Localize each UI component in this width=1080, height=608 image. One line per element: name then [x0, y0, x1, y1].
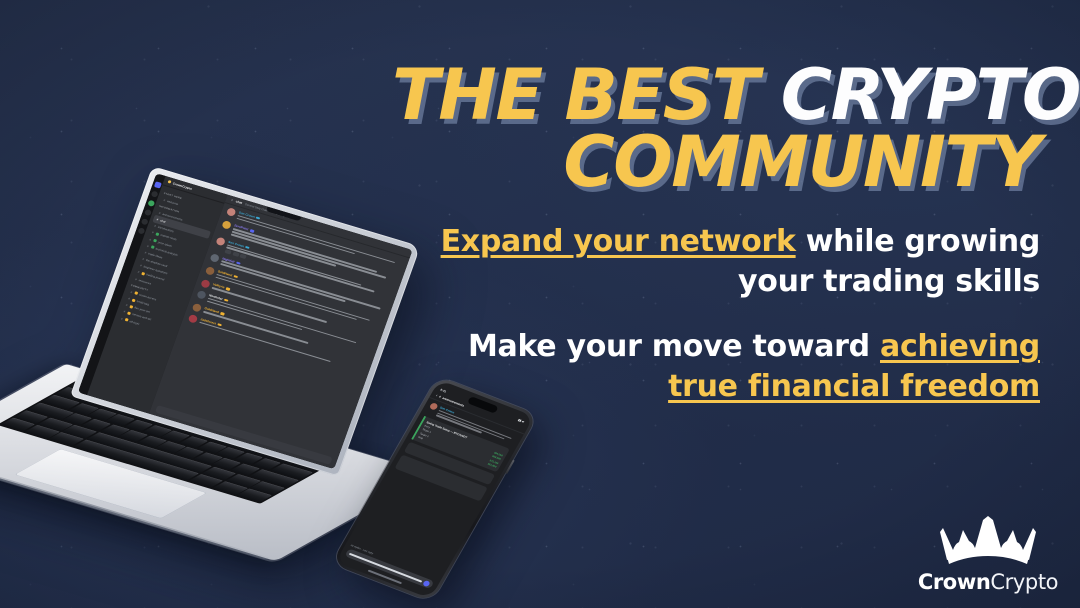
headline: THE BEST CRYPTO COMMUNITY [392, 62, 1040, 196]
channel-status-dot [129, 305, 133, 309]
avatar[interactable] [196, 290, 207, 300]
hash-icon: # [231, 198, 234, 202]
hash-icon: # [158, 211, 161, 215]
channel-status-dot [141, 272, 145, 276]
hash-icon: # [154, 224, 157, 228]
hash-icon: # [125, 303, 128, 307]
brand-crown: Crown [918, 570, 991, 594]
channel-status-dot [134, 291, 138, 295]
brand-logo[interactable]: CrownCrypto [912, 516, 1064, 594]
signal-row-label: Stop [417, 436, 423, 440]
subcopy-highlight-freedom: true financial freedom [668, 369, 1040, 404]
avatar[interactable] [215, 236, 226, 246]
subcopy-plain: Make your move toward [468, 329, 880, 364]
phone-device: 9:41 ▮▮ ▰ ‹ # announcements Son Crown [412, 386, 680, 586]
channel-status-dot [131, 298, 135, 302]
hash-icon: # [156, 217, 159, 221]
avatar[interactable] [226, 207, 237, 217]
channel-header-name: chat [235, 199, 242, 205]
hash-icon: # [163, 198, 166, 202]
role-badge-icon [220, 312, 225, 315]
subcopy-line-2: your trading skills [380, 262, 1040, 302]
hash-icon: # [149, 237, 152, 241]
role-badge-icon [256, 217, 261, 220]
avatar[interactable] [210, 253, 221, 263]
server-badge-icon [168, 180, 172, 184]
avatar[interactable] [192, 303, 203, 313]
channel-name: off-topic [129, 319, 140, 326]
channel-status-dot [127, 311, 131, 315]
hash-icon: # [128, 297, 131, 301]
brand-crypto: Crypto [990, 570, 1058, 594]
send-button[interactable] [422, 579, 431, 586]
headline-line-1: THE BEST CRYPTO [392, 62, 1040, 129]
avatar[interactable] [221, 220, 232, 230]
subcopy: Expand your network while growing your t… [380, 222, 1040, 406]
hash-icon: # [151, 231, 154, 235]
channel-status-dot [150, 245, 154, 249]
headline-community: COMMUNITY [392, 129, 1040, 196]
brand-wordmark: CrownCrypto [912, 570, 1064, 594]
promo-banner: CrownCrypto START HERE#welcomeINFORMATIO… [0, 0, 1080, 608]
role-badge-icon [224, 299, 229, 302]
hash-icon: # [130, 290, 133, 294]
role-badge-icon [249, 229, 254, 232]
hash-icon: # [147, 244, 150, 248]
subcopy-rest: while growing [796, 224, 1040, 259]
hash-icon: # [144, 250, 147, 254]
subcopy-block-1: Expand your network while growing your t… [380, 222, 1040, 301]
channel-name: chat [160, 218, 167, 223]
role-badge-icon [225, 287, 230, 290]
subcopy-line-1: Expand your network while growing [380, 222, 1040, 262]
role-badge-icon [233, 275, 238, 278]
hash-icon: # [135, 277, 138, 281]
avatar[interactable] [188, 314, 199, 324]
channel-status-dot [124, 318, 128, 322]
avatar[interactable] [205, 266, 216, 276]
hash-icon: # [142, 257, 145, 261]
avatar[interactable] [200, 279, 211, 289]
role-badge-icon [217, 323, 222, 326]
subcopy-highlight-achieving: achieving [880, 329, 1040, 364]
role-badge-icon [236, 261, 241, 264]
channel-status-dot [153, 239, 157, 243]
crown-icon [912, 516, 1064, 568]
role-badge-icon [245, 246, 250, 249]
subcopy-line-4: true financial freedom [380, 367, 1040, 407]
hash-icon: # [137, 270, 140, 274]
subcopy-block-2: Make your move toward achieving true fin… [380, 327, 1040, 406]
hash-icon: # [121, 316, 124, 320]
channel-status-dot [155, 232, 159, 236]
subcopy-highlight-expand: Expand your network [441, 224, 796, 259]
hash-icon: # [139, 264, 142, 268]
subcopy-line-3: Make your move toward achieving [380, 327, 1040, 367]
hash-icon: # [123, 310, 126, 314]
